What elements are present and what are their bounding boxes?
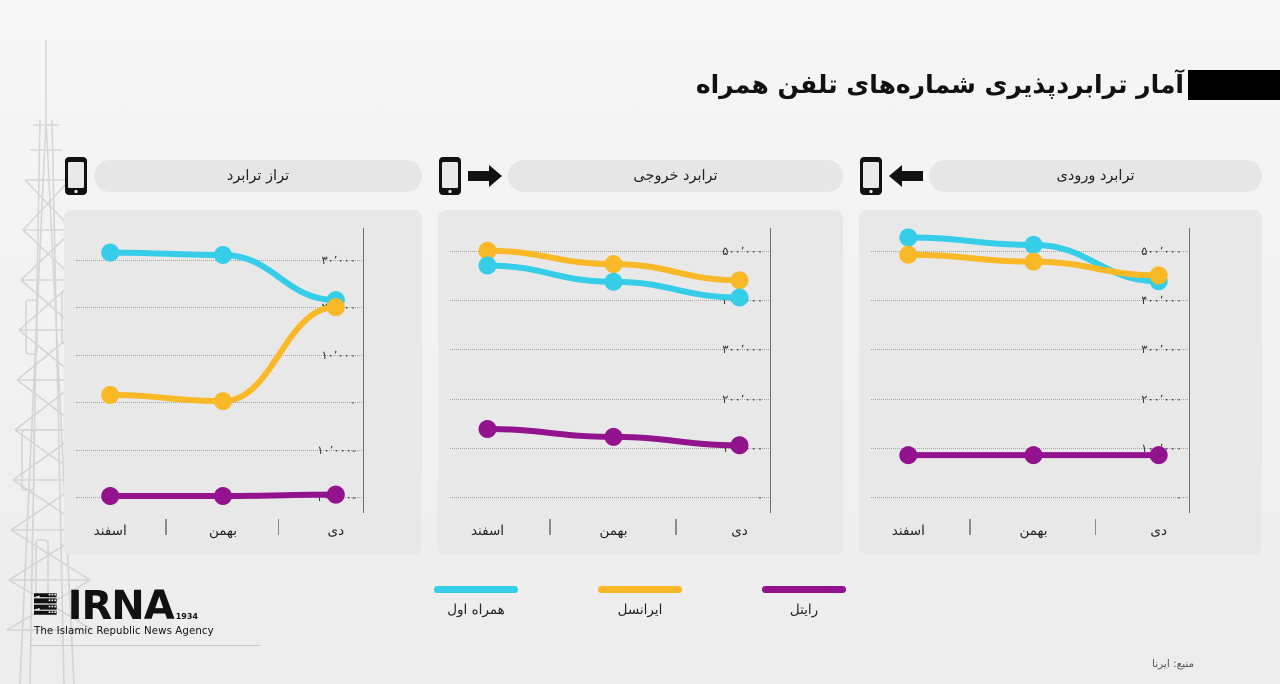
chart-series-layer [859, 210, 1262, 555]
series-point[interactable] [327, 486, 345, 504]
infographic-page: آمار ترابردپذیری شماره‌های تلفن همراه تر… [0, 0, 1280, 684]
series-point[interactable] [101, 244, 119, 262]
series-point[interactable] [605, 273, 623, 291]
legend-swatch [762, 586, 846, 593]
series-point[interactable] [327, 298, 345, 316]
logo-tagline: The Islamic Republic News Agency [34, 626, 198, 637]
legend-item: همراه اول [427, 586, 525, 636]
series-point[interactable] [214, 487, 232, 505]
line-chart-incoming: ۵۰۰٬۰۰۰۴۰۰٬۰۰۰۳۰۰٬۰۰۰۲۰۰٬۰۰۰۱۰۰٬۰۰۰۰دیبه… [859, 210, 1262, 555]
series-point[interactable] [605, 428, 623, 446]
series-point[interactable] [1025, 253, 1043, 271]
chart-panel-balance: ۳۰٬۰۰۰۲۰٬۰۰۰۱۰٬۰۰۰۰-۱۰٬۰۰۰-۲۰٬۰۰۰دیبهمنا… [64, 210, 422, 555]
legend-item: رایتل [755, 586, 853, 636]
series-point[interactable] [731, 271, 749, 289]
line-chart-balance: ۳۰٬۰۰۰۲۰٬۰۰۰۱۰٬۰۰۰۰-۱۰٬۰۰۰-۲۰٬۰۰۰دیبهمنا… [64, 210, 422, 555]
series-point[interactable] [214, 392, 232, 410]
legend-label: همراه اول [447, 602, 505, 618]
series-point[interactable] [479, 420, 497, 438]
page-title: آمار ترابردپذیری شماره‌های تلفن همراه [696, 62, 1184, 108]
chart-series-layer [438, 210, 843, 555]
series-point[interactable] [1150, 266, 1168, 284]
series-point[interactable] [899, 246, 917, 264]
series-point[interactable] [899, 228, 917, 246]
series-line [110, 307, 336, 401]
legend-label: رایتل [790, 602, 818, 618]
chart-panel-outgoing: ۵۰۰٬۰۰۰۴۰۰٬۰۰۰۳۰۰٬۰۰۰۲۰۰٬۰۰۰۱۰۰٬۰۰۰۰دیبه… [438, 210, 843, 555]
series-point[interactable] [1025, 446, 1043, 464]
logo-wordmark: IRNA [68, 588, 174, 625]
series-point[interactable] [605, 255, 623, 273]
charts-area: ۳۰٬۰۰۰۲۰٬۰۰۰۱۰٬۰۰۰۰-۱۰٬۰۰۰-۲۰٬۰۰۰دیبهمنا… [0, 155, 1280, 555]
series-point[interactable] [1025, 236, 1043, 254]
legend-item: ایرانسل [591, 586, 689, 636]
series-point[interactable] [1150, 446, 1168, 464]
legend-label: ایرانسل [618, 602, 663, 618]
series-point[interactable] [101, 487, 119, 505]
series-point[interactable] [899, 446, 917, 464]
chart-panel-incoming: ۵۰۰٬۰۰۰۴۰۰٬۰۰۰۳۰۰٬۰۰۰۲۰۰٬۰۰۰۱۰۰٬۰۰۰۰دیبه… [859, 210, 1262, 555]
series-point[interactable] [214, 246, 232, 264]
line-chart-outgoing: ۵۰۰٬۰۰۰۴۰۰٬۰۰۰۳۰۰٬۰۰۰۲۰۰٬۰۰۰۱۰۰٬۰۰۰۰دیبه… [438, 210, 843, 555]
legend-swatch [434, 586, 518, 593]
irna-flag-icon [34, 583, 66, 625]
series-point[interactable] [479, 257, 497, 275]
chart-series-layer [64, 210, 422, 555]
series-point[interactable] [731, 289, 749, 307]
legend-swatch [598, 586, 682, 593]
source-note: منبع: ایرنا [1152, 658, 1194, 670]
series-point[interactable] [101, 386, 119, 404]
footer-divider [30, 645, 260, 646]
title-accent-bar [1188, 70, 1280, 100]
irna-logo: IRNA 1934 The Islamic Republic News Agen… [34, 583, 198, 639]
series-point[interactable] [731, 436, 749, 454]
logo-year: 1934 [176, 612, 198, 621]
